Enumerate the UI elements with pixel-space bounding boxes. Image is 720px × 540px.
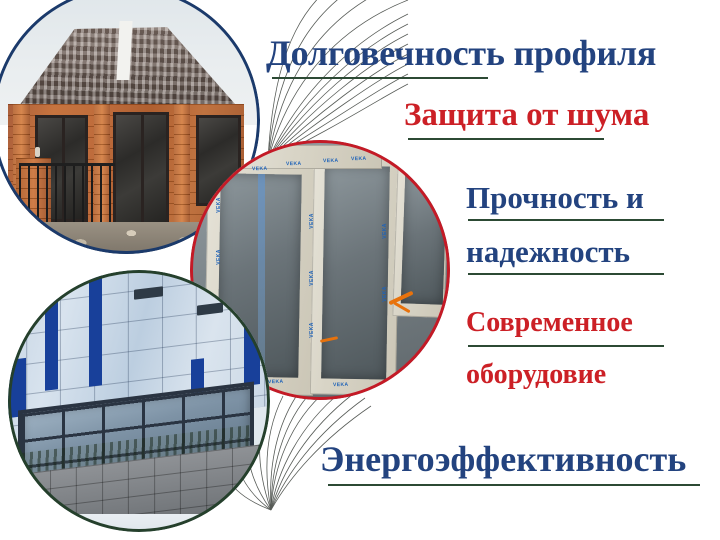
- headline-strength-line2: надежность: [466, 236, 630, 267]
- veka-brand-mark: VEKA: [216, 250, 222, 266]
- blue-accent-panel: [89, 270, 102, 386]
- veka-brand-mark: VEKA: [382, 224, 388, 240]
- headline-noise-protection: Защита от шума: [404, 99, 649, 132]
- veka-brand-mark: VEKA: [309, 322, 315, 338]
- veka-brand-mark: VEKA: [382, 286, 388, 302]
- avito-watermark: Avito: [617, 503, 689, 524]
- headline-energy-efficiency: Энергоэффективность: [320, 441, 686, 477]
- modern-facade-photo: [8, 270, 270, 532]
- veka-brand-mark: VEKA: [333, 382, 349, 388]
- avito-dots-icon: [617, 506, 637, 522]
- headline-underline: [408, 138, 604, 140]
- headline-underline: [468, 273, 664, 275]
- headline-equipment-line1: Современное: [466, 309, 633, 337]
- balcony-railing: [19, 163, 115, 228]
- veka-brand-mark: VEKA: [351, 155, 367, 161]
- wall-lamp: [35, 147, 40, 157]
- veka-brand-mark: VEKA: [224, 163, 240, 169]
- headline-underline: [468, 345, 664, 347]
- glass-pane: [401, 173, 447, 304]
- headline-strength-line1: Прочность и: [466, 182, 644, 213]
- snow-ground: [8, 514, 270, 532]
- poster-canvas: VEKA VEKA VEKA VEKA VEKA VEKA VEKA VEKA …: [0, 0, 720, 540]
- avito-wordmark: Avito: [640, 503, 689, 524]
- window: [113, 112, 169, 230]
- veka-brand-mark: VEKA: [309, 270, 315, 286]
- veka-brand-mark: VEKA: [252, 166, 268, 172]
- headline-underline: [468, 219, 664, 221]
- blue-accent-panel: [45, 274, 58, 391]
- veka-brand-mark: VEKA: [309, 213, 315, 229]
- headline-durability: Долговечность профиля: [266, 35, 656, 71]
- veka-brand-mark: VEKA: [323, 158, 339, 164]
- glass-pane: [321, 165, 390, 379]
- headline-underline: [272, 77, 488, 79]
- headline-equipment-line2: оборудовие: [466, 361, 606, 389]
- headline-underline: [328, 484, 700, 486]
- veka-brand-mark: VEKA: [216, 198, 222, 214]
- veka-brand-mark: VEKA: [268, 379, 284, 385]
- veka-brand-mark: VEKA: [286, 161, 302, 167]
- blue-accent-panel: [244, 290, 260, 386]
- photo-circle-modern-facade: [8, 270, 270, 532]
